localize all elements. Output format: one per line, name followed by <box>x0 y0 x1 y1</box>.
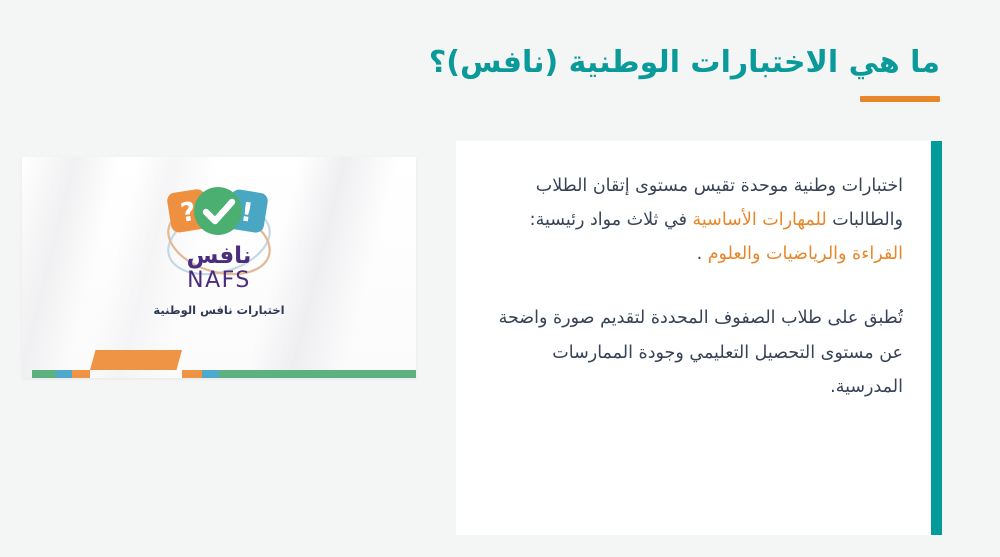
nafs-logo-svg: ? ! نافس NAFS <box>119 183 319 295</box>
nafs-logo-mark: ? ! نافس NAFS <box>119 183 319 295</box>
page-title: ما هي الاختبارات الوطنية (نافس)؟ <box>320 44 940 82</box>
slide-root: ما هي الاختبارات الوطنية (نافس)؟ ? <box>0 0 1000 557</box>
strip-blue-right <box>202 370 219 378</box>
strip-orange-parallelogram <box>90 350 182 370</box>
paragraph-one: اختبارات وطنية موحدة تقيس مستوى إتقان ال… <box>486 169 903 271</box>
wordmark-latin: NAFS <box>187 268 251 293</box>
nafs-image-card: ? ! نافس NAFS ا <box>22 157 416 378</box>
strip-orange-right <box>182 370 202 378</box>
para1-part2: في ثلاث مواد رئيسية: <box>530 210 693 230</box>
strip-green-left <box>32 370 56 378</box>
description-body: اختبارات وطنية موحدة تقيس مستوى إتقان ال… <box>486 169 903 404</box>
title-block: ما هي الاختبارات الوطنية (نافس)؟ <box>320 44 940 102</box>
paragraph-two: تُطبق على طلاب الصفوف المحددة لتقديم صور… <box>486 301 903 403</box>
wordmark-arabic: نافس <box>187 243 252 269</box>
para1-highlight2: القراءة والرياضيات والعلوم <box>708 244 903 264</box>
description-card: اختبارات وطنية موحدة تقيس مستوى إتقان ال… <box>456 141 931 535</box>
title-underline-rule <box>860 96 940 102</box>
nafs-logo: ? ! نافس NAFS ا <box>22 183 416 317</box>
description-card-accent-bar <box>931 141 942 535</box>
strip-green-right <box>219 370 416 378</box>
check-badge-icon <box>194 187 242 235</box>
nafs-tagline: اختبارات نافس الوطنية <box>153 303 284 317</box>
strip-orange-left <box>72 370 90 378</box>
para1-highlight1: للمهارات الأساسية <box>693 210 827 230</box>
decorative-color-strip <box>22 350 416 378</box>
strip-blue-left <box>56 370 72 378</box>
para1-part3: . <box>697 244 708 264</box>
